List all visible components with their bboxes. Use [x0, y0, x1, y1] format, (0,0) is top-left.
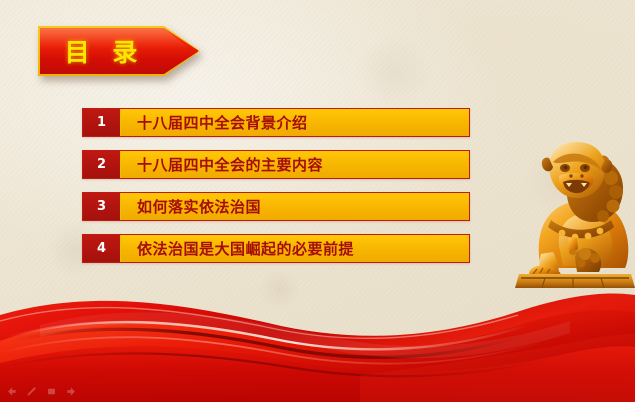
table-of-contents-list: 1 十八届四中全会背景介绍 2 十八届四中全会的主要内容 3 如何落实依法治国 … — [82, 108, 470, 276]
toc-item-label: 如何落实依法治国 — [121, 193, 469, 220]
toc-number-badge: 1 — [83, 109, 121, 136]
title-banner: 目 录 — [38, 26, 200, 76]
presentation-slide: 目 录 1 十八届四中全会背景介绍 2 十八届四中全会的主要内容 3 如何落实依… — [0, 0, 635, 402]
toc-item-2[interactable]: 2 十八届四中全会的主要内容 — [82, 150, 470, 179]
toc-number-badge: 2 — [83, 151, 121, 178]
toc-item-3[interactable]: 3 如何落实依法治国 — [82, 192, 470, 221]
page-title: 目 录 — [38, 26, 164, 76]
previous-arrow-icon[interactable] — [6, 386, 17, 397]
red-ribbon-wave — [0, 267, 635, 402]
toc-item-label: 十八届四中全会的主要内容 — [121, 151, 469, 178]
presentation-nav-toolbar[interactable] — [6, 386, 77, 397]
toc-item-label: 十八届四中全会背景介绍 — [121, 109, 469, 136]
toc-number-badge: 3 — [83, 193, 121, 220]
stop-square-icon[interactable] — [46, 386, 57, 397]
toc-item-1[interactable]: 1 十八届四中全会背景介绍 — [82, 108, 470, 137]
guardian-lion-statue — [515, 128, 635, 288]
toc-item-label: 依法治国是大国崛起的必要前提 — [121, 235, 469, 262]
toc-number-badge: 4 — [83, 235, 121, 262]
next-arrow-icon[interactable] — [66, 386, 77, 397]
pen-icon[interactable] — [26, 386, 37, 397]
toc-item-4[interactable]: 4 依法治国是大国崛起的必要前提 — [82, 234, 470, 263]
